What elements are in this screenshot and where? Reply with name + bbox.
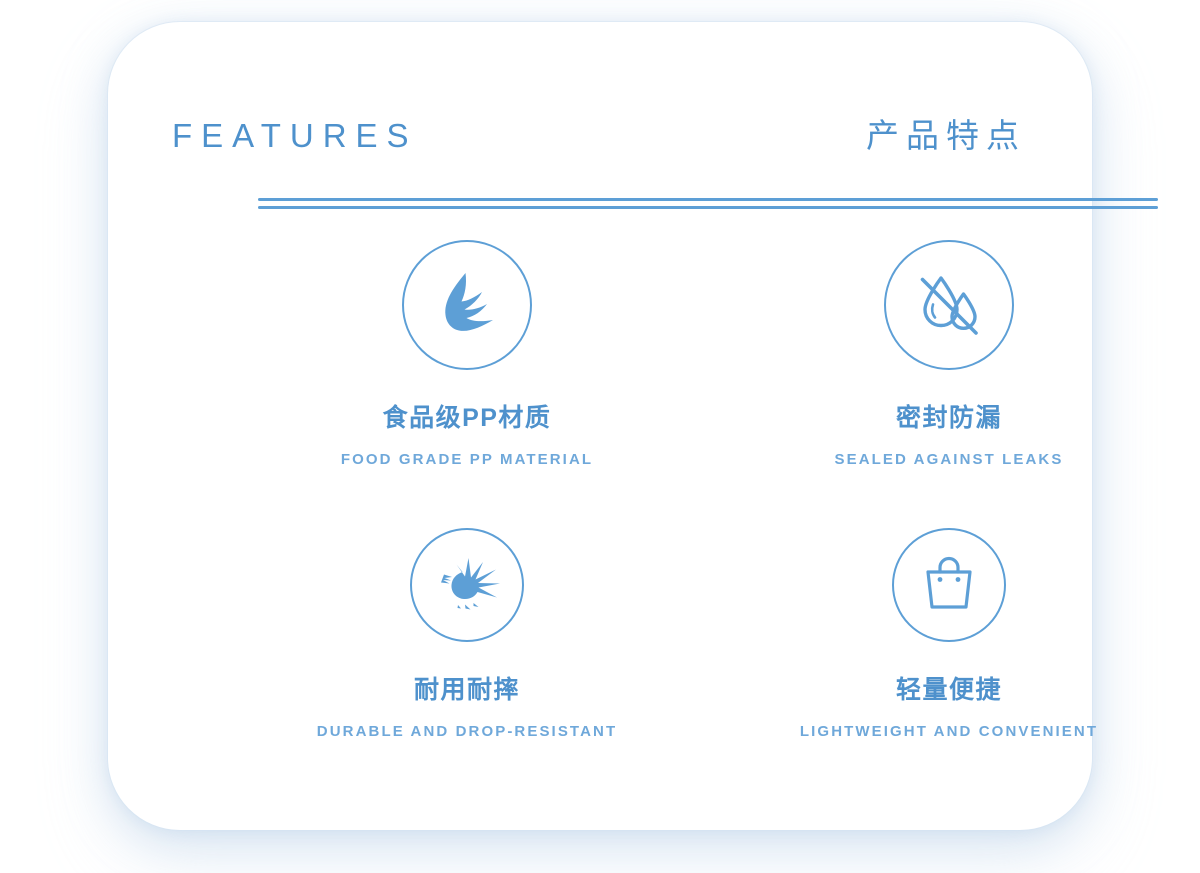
feature-title-en: FOOD GRADE PP MATERIAL (341, 452, 593, 467)
divider-line-bottom (258, 206, 1158, 209)
page-title-cn: 产品特点 (866, 119, 1028, 152)
feature-item-sealed: 密封防漏 SEALED AGAINST LEAKS (708, 240, 1190, 528)
icon-ring (410, 528, 524, 642)
features-card: FEATURES 产品特点 食品级PP材质 FOOD GRAD (108, 22, 1092, 830)
icon-ring (884, 240, 1014, 370)
feature-title-cn: 密封防漏 (896, 406, 1002, 431)
feature-item-durable: 耐用耐摔 DURABLE AND DROP-RESISTANT (226, 528, 708, 816)
no-water-drops-icon (908, 264, 990, 346)
feature-title-cn: 耐用耐摔 (414, 678, 520, 703)
feature-title-cn: 食品级PP材质 (383, 406, 552, 431)
card-header: FEATURES 产品特点 (172, 100, 1028, 170)
feature-title-en: SEALED AGAINST LEAKS (835, 452, 1064, 467)
feature-item-food-grade: 食品级PP材质 FOOD GRADE PP MATERIAL (226, 240, 708, 528)
page-root: FEATURES 产品特点 食品级PP材质 FOOD GRAD (0, 0, 1200, 873)
feature-title-cn: 轻量便捷 (896, 678, 1002, 703)
icon-ring (402, 240, 532, 370)
impact-burst-icon (432, 550, 502, 620)
feature-title-en: DURABLE AND DROP-RESISTANT (317, 724, 617, 739)
feature-item-lightweight: 轻量便捷 LIGHTWEIGHT AND CONVENIENT (708, 528, 1190, 816)
leaf-icon (425, 263, 509, 347)
divider-line-top (258, 198, 1158, 201)
features-grid: 食品级PP材质 FOOD GRADE PP MATERIAL (226, 240, 1190, 816)
icon-ring (892, 528, 1006, 642)
header-divider (258, 198, 1158, 209)
shopping-bag-icon (917, 553, 981, 617)
page-title-en: FEATURES (172, 119, 418, 152)
feature-title-en: LIGHTWEIGHT AND CONVENIENT (800, 724, 1098, 739)
